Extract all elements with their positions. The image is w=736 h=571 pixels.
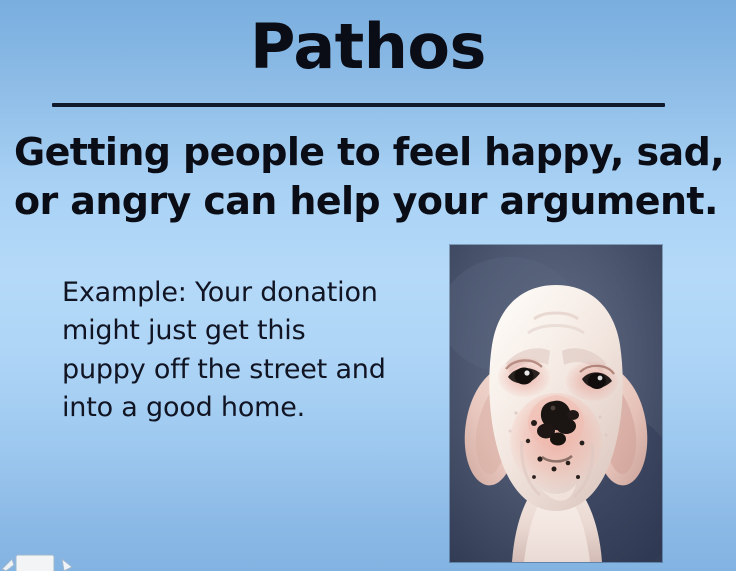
corner-clipart-shape: [0, 551, 78, 571]
corner-clipart: [0, 551, 78, 571]
title-divider: [52, 103, 665, 107]
main-statement-text: Getting people to feel happy, sad, or an…: [14, 128, 736, 225]
example-text: Example: Your donation might just get th…: [62, 274, 392, 427]
page-title: Pathos: [0, 14, 736, 79]
puppy-photo: [450, 245, 662, 562]
slide-canvas: Pathos Getting people to feel happy, sad…: [0, 0, 736, 571]
puppy-photo-illustration: [450, 245, 662, 562]
